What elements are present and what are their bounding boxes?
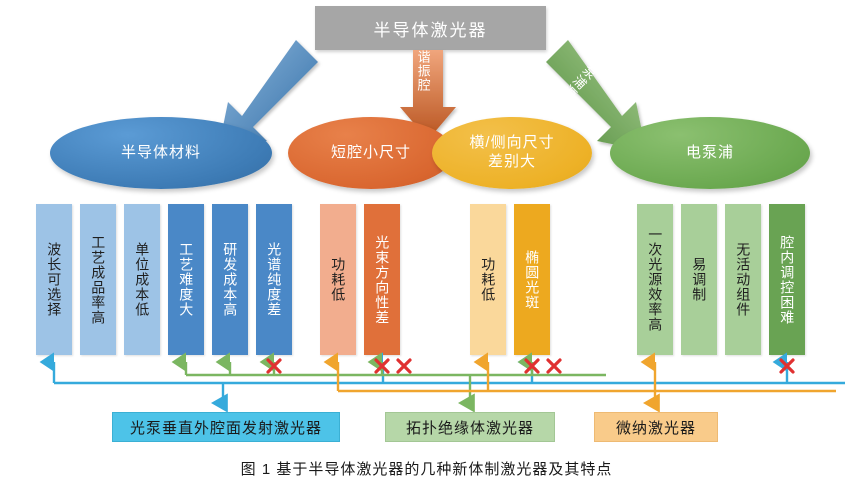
figure-canvas: 半导体激光器 [0,0,853,494]
column-label: 功耗低 [330,257,347,302]
column-no-moving-parts: 无活动组件 [725,204,761,355]
column-power-consumption-low-orange: 功耗低 [320,204,356,355]
column-label: 工艺成品率高 [90,235,107,325]
column-label: 椭圆光斑 [524,250,541,310]
legend-micro-nano-laser: 微纳激光器 [594,412,718,442]
connector-group-topological-insulator-laser [186,362,606,403]
ellipse-short-cavity-small-size: 短腔小尺寸 [288,117,454,189]
legend-label: 微纳激光器 [616,417,696,438]
column-primary-source-efficiency-high: 一次光源效率高 [637,204,673,355]
legend-label: 拓扑绝缘体激光器 [406,417,534,438]
column-label: 单位成本低 [134,242,151,317]
column-label: 功耗低 [480,257,497,302]
arrow-gain-medium-label: 增益介质 [176,52,229,105]
column-label: 无活动组件 [735,242,752,317]
column-rnd-cost-high: 研发成本高 [212,204,248,355]
column-process-yield-high: 工艺成品率高 [80,204,116,355]
ellipse-transverse-lateral-size-difference: 横/侧向尺寸 差别大 [432,117,592,189]
column-beam-directionality-poor: 光束方向性差 [364,204,400,355]
column-label: 工艺难度大 [178,242,195,317]
cross-markers [268,360,793,372]
arrow-pump-source-label: 泵浦源 [557,60,600,103]
legend-topological-insulator-laser: 拓扑绝缘体激光器 [385,412,555,442]
legend-label: 光泵垂直外腔面发射激光器 [130,417,322,438]
column-wavelength-selectable: 波长可选择 [36,204,72,355]
ellipse-semiconductor-material-label: 半导体材料 [121,144,201,163]
root-node-semiconductor-laser: 半导体激光器 [315,6,546,50]
ellipse-size-diff-line1: 横/侧向尺寸 [469,134,554,153]
column-label: 易调制 [691,257,708,302]
figure-caption: 图 1 基于半导体激光器的几种新体制激光器及其特点 [0,458,853,479]
ellipse-size-diff-line2: 差别大 [488,153,536,172]
cross-icon [548,360,560,372]
connector-group-opt-pumped-vecsel [54,362,845,403]
cross-icon [268,360,280,372]
legend-opt-pumped-vecsel: 光泵垂直外腔面发射激光器 [112,412,340,442]
column-elliptical-spot: 椭圆光斑 [514,204,550,355]
connector-group-micro-nano-laser [338,362,836,403]
column-spectral-purity-poor: 光谱纯度差 [256,204,292,355]
ellipse-electrical-pump-label: 电泵浦 [686,144,734,163]
cross-icon [526,360,538,372]
arrow-resonant-cavity-label-wrap: 谐振腔 [414,50,444,130]
column-unit-cost-low: 单位成本低 [124,204,160,355]
ellipse-electrical-pump: 电泵浦 [610,117,810,189]
root-node-label: 半导体激光器 [374,16,488,41]
ellipse-short-cavity-small-size-label: 短腔小尺寸 [331,144,411,163]
column-power-consumption-low-yellow: 功耗低 [470,204,506,355]
column-intracavity-control-difficult: 腔内调控困难 [769,204,805,355]
column-easy-modulation: 易调制 [681,204,717,355]
cross-icon [398,360,410,372]
arrow-resonant-cavity-label: 谐振腔 [416,50,430,92]
column-label: 光谱纯度差 [266,242,283,317]
column-label: 波长可选择 [46,242,63,317]
column-label: 光束方向性差 [374,235,391,325]
ellipse-semiconductor-material: 半导体材料 [50,117,272,189]
column-label: 腔内调控困难 [779,235,796,325]
cross-icon [781,360,793,372]
cross-icon [376,360,388,372]
column-label: 研发成本高 [222,242,239,317]
column-label: 一次光源效率高 [647,227,664,332]
column-process-difficulty-high: 工艺难度大 [168,204,204,355]
